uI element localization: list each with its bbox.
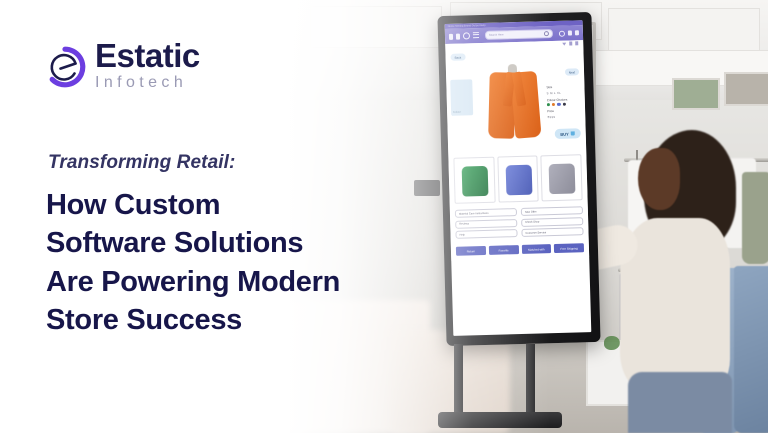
colour-label: Colour Choices [547, 97, 581, 102]
green-blazer [462, 166, 489, 197]
hamburger-menu-icon[interactable] [473, 32, 479, 38]
kiosk-matched-with-button[interactable]: Matched with [521, 244, 551, 254]
kiosk-favorite-button[interactable]: Favorite [489, 245, 519, 255]
ceiling-panel [608, 8, 760, 54]
hanging-shirt [734, 266, 768, 433]
colour-swatch[interactable] [547, 103, 550, 106]
colour-swatch-row[interactable] [547, 102, 581, 106]
stand-base [438, 412, 562, 428]
wall-art [724, 72, 768, 106]
size-label: Size [546, 84, 580, 89]
kiosk-stand [452, 344, 548, 426]
price-label: Price [547, 108, 581, 113]
marketing-banner: Home Setting Brand Output Help Search He… [0, 0, 768, 433]
kiosk-free-shipping-button[interactable]: Free Shipping [554, 243, 584, 253]
colour-swatch[interactable] [562, 103, 565, 106]
bag-icon[interactable] [456, 33, 460, 39]
kiosk-next-button[interactable]: Next [565, 68, 579, 76]
kiosk-topbar-right-icons [559, 30, 579, 37]
kiosk-product-specs: Size S M L XL Colour Choices Price ₹999 [546, 84, 581, 122]
kiosk-buy-button[interactable]: BUY [554, 128, 581, 139]
kiosk-screen[interactable]: Home Setting Brand Output Help Search He… [445, 20, 592, 336]
kiosk-product-hero: Back Next Colour Size S M L XL Colour Ch… [445, 46, 586, 154]
hanging-jacket [742, 172, 768, 264]
profile-icon[interactable] [575, 30, 579, 35]
stand-column [526, 344, 535, 416]
brand-wordmark: Estatic Infotech [95, 40, 200, 94]
kiosk-link[interactable]: New Offer [521, 206, 583, 216]
kiosk-thumbnail[interactable] [541, 154, 583, 201]
headline-line-4: Store Success [46, 301, 426, 339]
kiosk-action-row: Return Favorite Matched with Free Shippi… [451, 235, 590, 261]
brand-name-secondary: Infotech [95, 73, 200, 94]
chevron-down-icon[interactable] [562, 42, 566, 45]
brand-name-primary: Estatic [95, 40, 200, 71]
grid-icon[interactable] [449, 33, 453, 39]
kiosk-links-left: Material Care Instructions Reviews Help [455, 208, 518, 239]
headline-line-2: Software Solutions [46, 224, 426, 262]
blue-blazer [505, 165, 532, 196]
kiosk-return-button[interactable]: Return [456, 246, 486, 256]
wall-art [672, 78, 720, 110]
kiosk-colour-panel-label: Colour [453, 111, 461, 114]
refresh-icon[interactable] [559, 30, 565, 36]
kiosk-search-input[interactable]: Search Here [485, 29, 553, 40]
brand-logo[interactable]: Estatic Infotech [44, 40, 200, 94]
kiosk-colour-panel[interactable]: Colour [450, 79, 473, 116]
headline-line-1: How Custom [46, 186, 426, 224]
download-icon[interactable] [569, 41, 572, 45]
upload-icon[interactable] [575, 41, 578, 45]
kiosk-link-grid: Material Care Instructions Reviews Help … [450, 203, 589, 239]
headline-line-3: Are Powering Modern [46, 263, 426, 301]
colour-swatch[interactable] [552, 103, 555, 106]
kiosk-buy-label: BUY [560, 131, 569, 136]
kiosk-thumbnail[interactable] [453, 157, 495, 204]
shopper-jeans [628, 372, 732, 433]
kiosk-back-button[interactable]: Back [450, 53, 465, 61]
kiosk-link[interactable]: Check Shop [521, 217, 583, 227]
user-circle-icon[interactable] [463, 32, 470, 39]
grey-blazer [549, 163, 576, 194]
shopping-cart-icon [571, 132, 575, 136]
colour-swatch[interactable] [557, 103, 560, 106]
kiosk-thumbnail[interactable] [497, 155, 539, 202]
shopper-face [638, 148, 680, 210]
retail-kiosk: Home Setting Brand Output Help Search He… [437, 12, 600, 346]
filter-icon[interactable] [568, 30, 572, 35]
kiosk-thumbnail-row [448, 150, 587, 207]
kiosk-link[interactable]: Material Care Instructions [455, 208, 517, 218]
page-title: How Custom Software Solutions Are Poweri… [46, 186, 426, 339]
ceiling-panel [310, 6, 442, 48]
stand-column [454, 344, 463, 416]
estatic-circle-e-logo-icon [44, 46, 86, 88]
kiosk-link[interactable]: Reviews [455, 219, 517, 229]
magnifier-icon[interactable] [544, 31, 549, 36]
kiosk-search-placeholder: Search Here [489, 33, 504, 36]
kiosk-links-right: New Offer Check Shop Customer Service [521, 206, 584, 237]
price-value: ₹999 [547, 114, 581, 119]
size-options[interactable]: S M L XL [547, 90, 581, 95]
eyebrow-text: Transforming Retail: [48, 152, 235, 174]
